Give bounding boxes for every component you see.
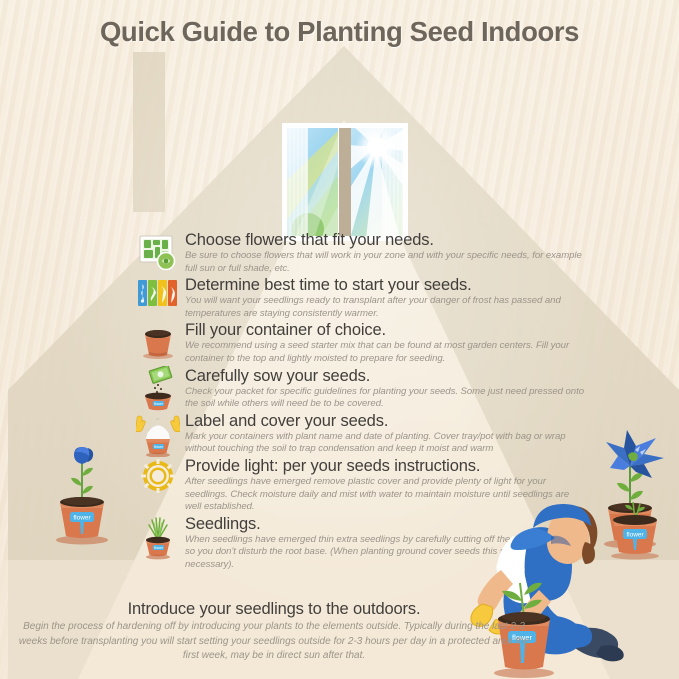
- empty-pot-icon: [136, 320, 180, 366]
- step-item: Choose flowers that fit your needs. Be s…: [136, 230, 588, 275]
- svg-text:flower: flower: [154, 402, 164, 406]
- seedlings-pot-icon: flower: [136, 514, 180, 560]
- step-heading: Fill your container of choice.: [185, 320, 588, 340]
- step-item: Fill your container of choice. We recomm…: [136, 320, 588, 365]
- outro-block: Introduce your seedlings to the outdoors…: [14, 598, 534, 664]
- window-with-sunlight: [280, 121, 410, 243]
- step-heading: Provide light: per your seeds instructio…: [185, 456, 588, 476]
- step-heading: Carefully sow your seeds.: [185, 366, 588, 386]
- seasons-calendar-icon: [136, 275, 180, 321]
- page-title: Quick Guide to Planting Seed Indoors: [0, 16, 679, 48]
- step-item: Determine best time to start your seeds.…: [136, 275, 588, 320]
- step-heading: Determine best time to start your seeds.: [185, 275, 588, 295]
- infographic-poster: Quick Guide to Planting Seed Indoors: [0, 0, 679, 679]
- step-description: Check your packet for specific guideline…: [185, 386, 588, 411]
- left-flower-pot: flower: [44, 424, 120, 546]
- step-description: Mark your containers with plant name and…: [185, 431, 588, 456]
- step-heading: Label and cover your seeds.: [185, 411, 588, 431]
- seed-packet-pouring-icon: flower: [136, 366, 180, 412]
- seed-catalog-icon: [136, 230, 180, 276]
- outro-heading: Introduce your seedlings to the outdoors…: [14, 598, 534, 620]
- svg-text:flower: flower: [154, 445, 164, 449]
- outro-description: Begin the process of hardening off by in…: [14, 620, 534, 664]
- step-heading: Choose flowers that fit your needs.: [185, 230, 588, 250]
- svg-text:flower: flower: [73, 515, 91, 522]
- step-description: You will want your seedlings ready to tr…: [185, 295, 588, 320]
- step-description: Be sure to choose flowers that will work…: [185, 250, 588, 275]
- gloves-covering-pot-icon: flower: [136, 411, 180, 457]
- step-item: flower Carefully sow your seeds. Check y…: [136, 366, 588, 411]
- sun-light-icon: [136, 456, 180, 502]
- step-item: flower Label and cover your seeds. Mark …: [136, 411, 588, 456]
- svg-text:flower: flower: [154, 546, 164, 550]
- step-description: We recommend using a seed starter mix th…: [185, 340, 588, 365]
